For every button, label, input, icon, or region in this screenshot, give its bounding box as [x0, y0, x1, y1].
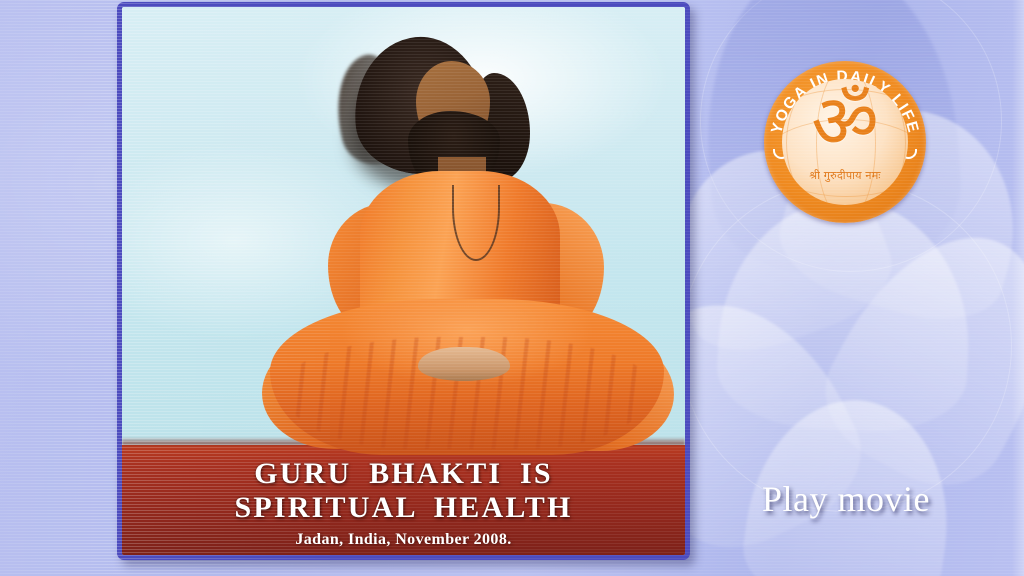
- photo-title-line-1: GURU BHAKTI IS: [122, 457, 685, 491]
- photo-caption-block: GURU BHAKTI IS SPIRITUAL HEALTH Jadan, I…: [122, 457, 685, 549]
- logo-inner-disc: ॐ श्री गुरुदीपाय नमः: [782, 79, 908, 205]
- yoga-in-daily-life-logo: YOGA IN DAILY LIFE THE SYSTEM ॐ श्री गुर…: [764, 61, 926, 223]
- photo-title-line-2: SPIRITUAL HEALTH: [122, 491, 685, 525]
- logo-sanskrit-text: श्री गुरुदीपाय नमः: [782, 168, 908, 183]
- dvd-menu-screen: GURU BHAKTI IS SPIRITUAL HEALTH Jadan, I…: [0, 0, 1024, 576]
- meditating-swami-photo: GURU BHAKTI IS SPIRITUAL HEALTH Jadan, I…: [122, 7, 685, 555]
- right-edge-highlight: [1012, 0, 1024, 576]
- photo-subcaption: Jadan, India, November 2008.: [122, 531, 685, 549]
- folded-hands: [418, 347, 510, 381]
- play-movie-button[interactable]: Play movie: [716, 478, 976, 520]
- om-symbol: ॐ: [782, 85, 908, 159]
- cover-image-panel[interactable]: GURU BHAKTI IS SPIRITUAL HEALTH Jadan, I…: [117, 2, 690, 560]
